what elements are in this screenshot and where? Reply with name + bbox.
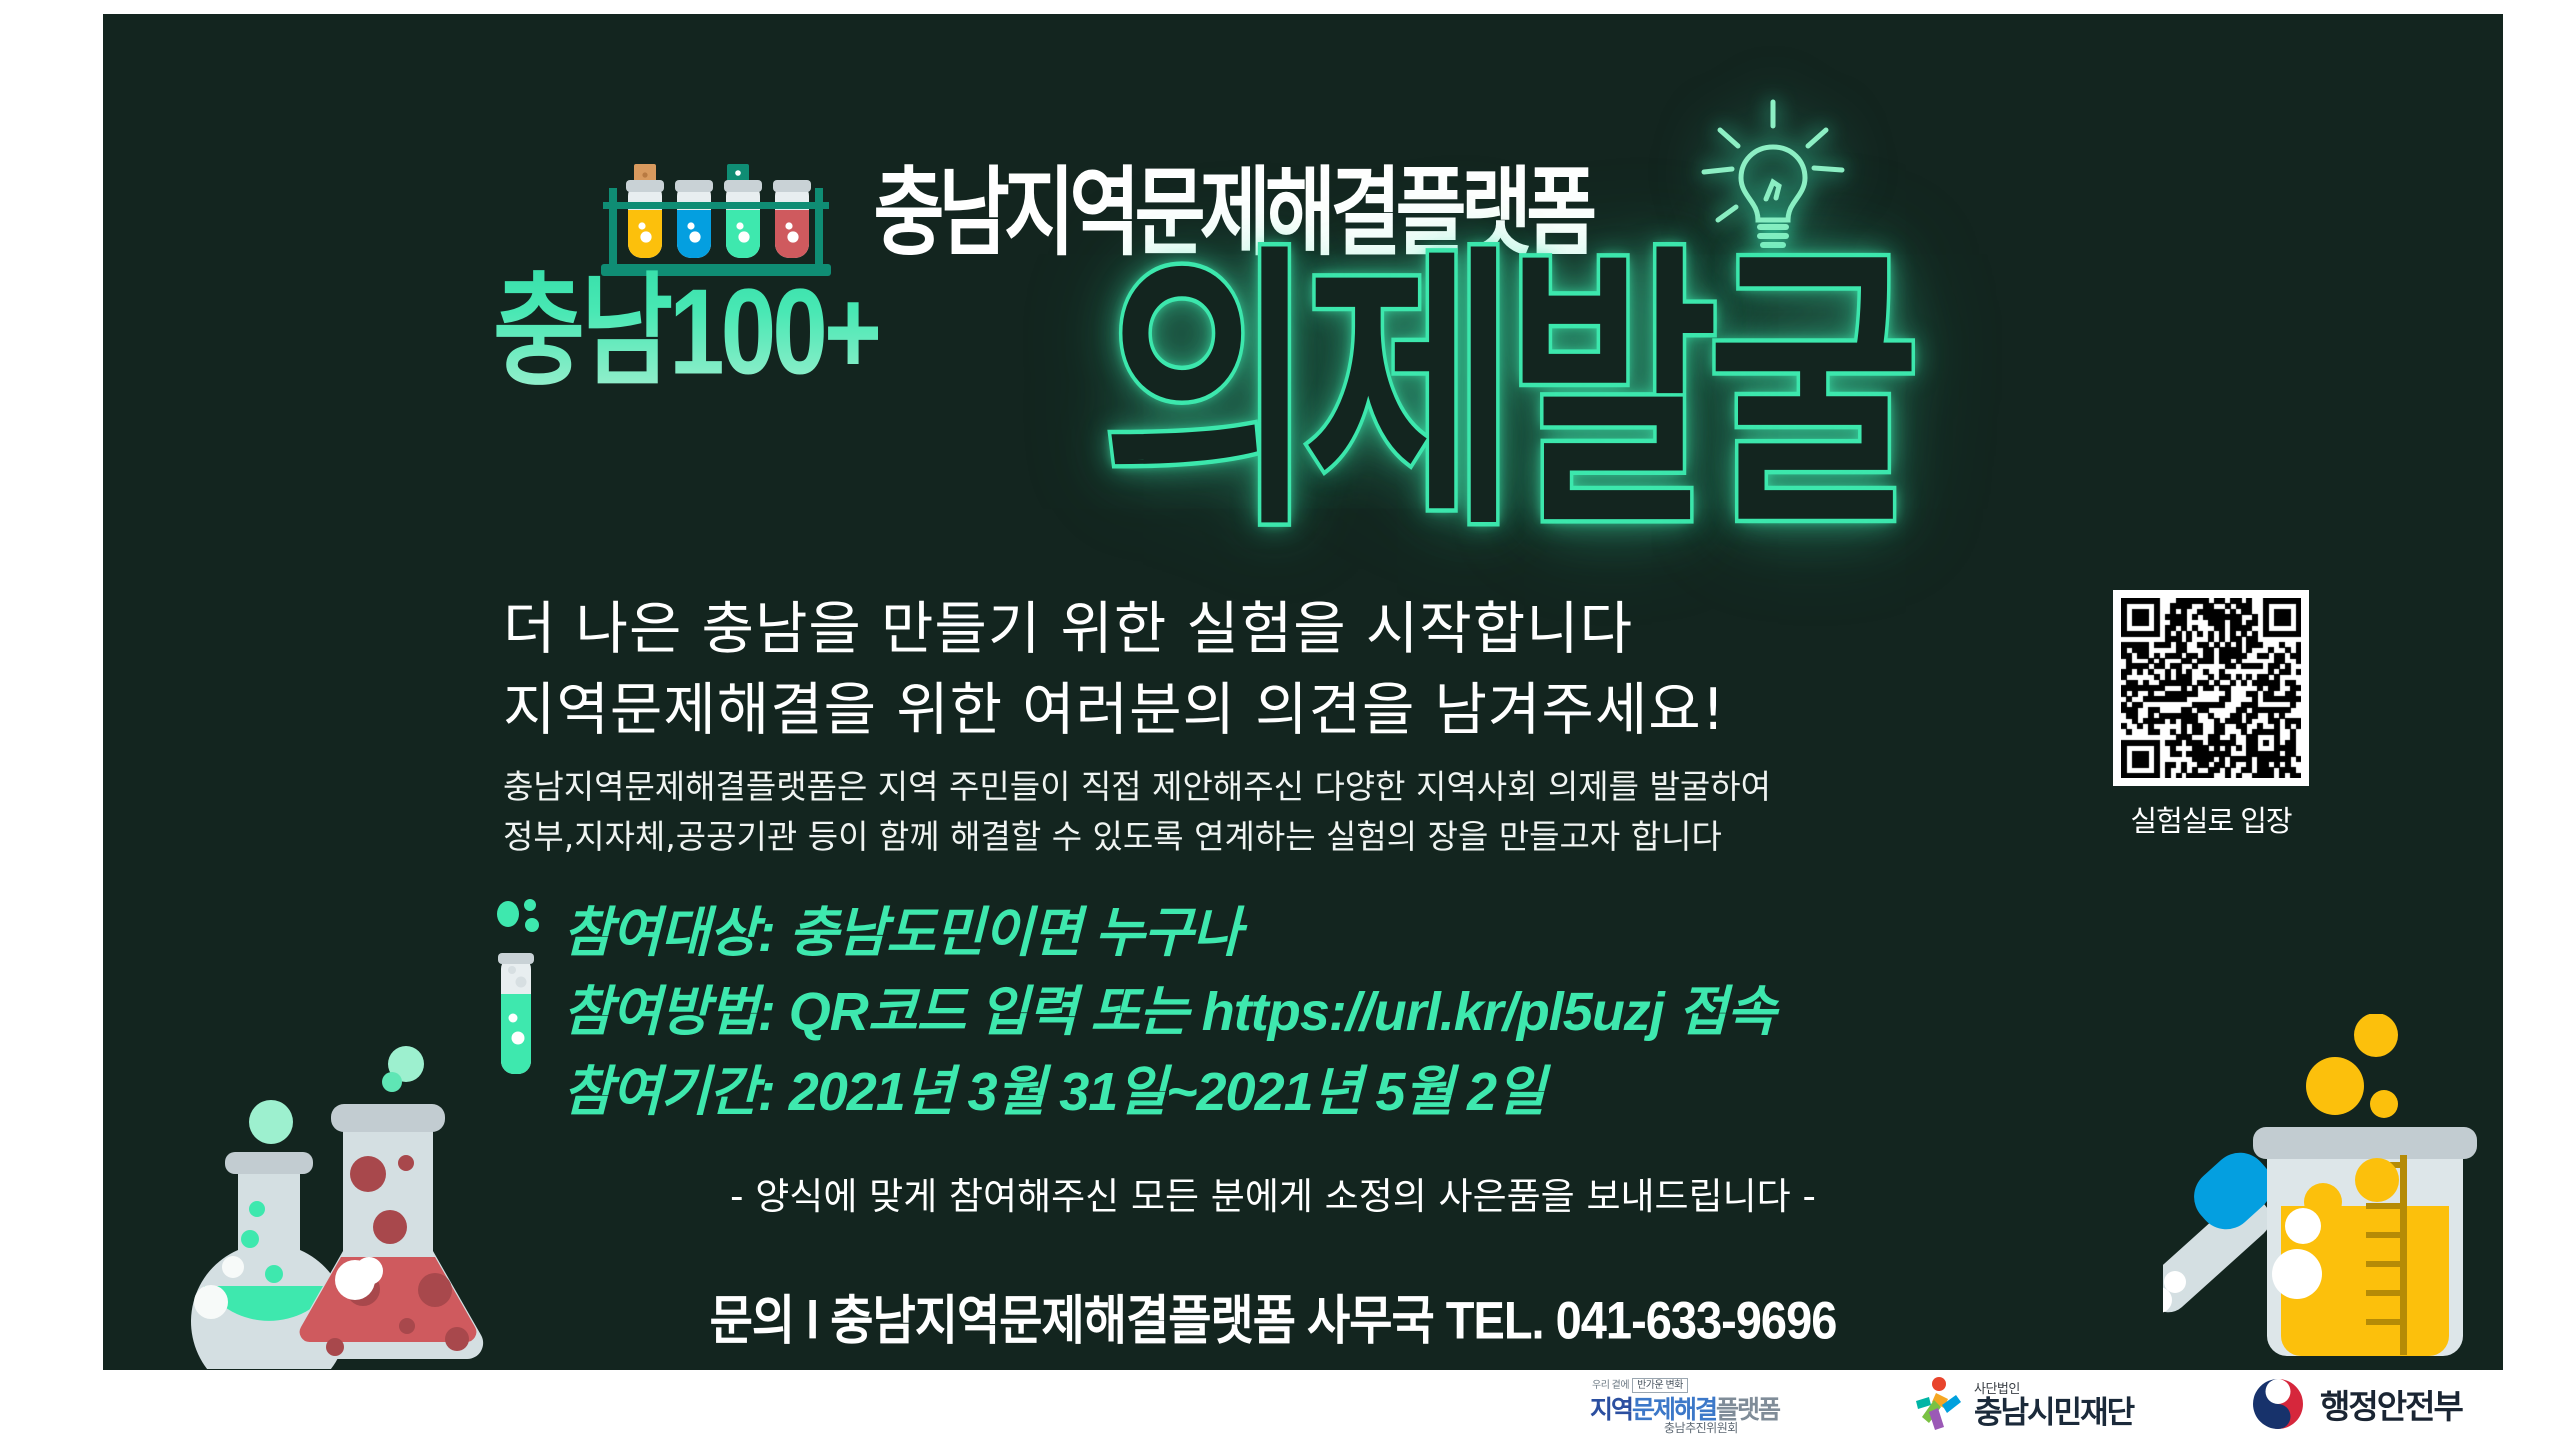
logo-text: 사단법인 충남시민재단 xyxy=(1974,1378,2133,1430)
logo-subtitle: 충남추진위원회 xyxy=(1664,1419,1738,1436)
description-block: 충남지역문제해결플랫폼은 지역 주민들이 직접 제안해주신 다양한 지역사회 의… xyxy=(503,762,1771,862)
logo-jiyeok-platform: 우리 곁에반가운 변화 지역문제해결플랫폼 충남추진위원회 xyxy=(1578,1372,1828,1436)
description-line-2: 정부,지자체,공공기관 등이 함께 해결할 수 있도록 연계하는 실험의 장을 … xyxy=(503,812,1771,862)
logo-chungnam-citizen-foundation: 사단법인 충남시민재단 xyxy=(1914,1372,2164,1436)
logo-tagline: 우리 곁에반가운 변화 xyxy=(1592,1376,1688,1391)
footer-logo-strip: 우리 곁에반가운 변화 지역문제해결플랫폼 충남추진위원회 사단법인 xyxy=(0,1370,2560,1440)
headline-line-1: 더 나은 충남을 만들기 위한 실험을 시작합니다 xyxy=(503,589,1726,670)
headline-line-2: 지역문제해결을 위한 여러분의 의견을 남겨주세요! xyxy=(503,670,1726,751)
beaker-pipette-icon xyxy=(2163,1014,2503,1370)
logo-big-text: 행정안전부 xyxy=(2320,1380,2462,1428)
lab-flasks-icon xyxy=(163,1024,523,1369)
qr-caption: 실험실로 입장 xyxy=(2105,798,2317,840)
qr-block[interactable]: 실험실로 입장 xyxy=(2105,590,2317,840)
poster-root: 충남지역문제해결플랫폼 xyxy=(0,0,2560,1440)
qr-canvas[interactable] xyxy=(2121,598,2301,778)
logo-big-text: 충남시민재단 xyxy=(1974,1397,2133,1430)
neon-title: 의제발굴 xyxy=(1103,154,1909,580)
taegeuk-icon xyxy=(2250,1376,2306,1432)
description-line-1: 충남지역문제해결플랫폼은 지역 주민들이 직접 제안해주신 다양한 지역사회 의… xyxy=(503,762,1771,812)
key-info-row-target: 참여대상: 충남도민이면 누구나 xyxy=(563,894,1775,973)
key-info-row-method[interactable]: 참여방법: QR코드 입력 또는 https://url.kr/pl5uzj 접… xyxy=(563,973,1775,1052)
headline-block: 더 나은 충남을 만들기 위한 실험을 시작합니다 지역문제해결을 위한 여러분… xyxy=(503,589,1726,751)
logo-title-part1: 지역 xyxy=(1590,1396,1632,1424)
qr-code-icon[interactable] xyxy=(2113,590,2309,786)
key-info-row-period: 참여기간: 2021년 3월 31일~2021년 5월 2일 xyxy=(563,1053,1775,1132)
brand-word: 충남100+ xyxy=(493,232,878,409)
molecule-icon xyxy=(497,899,539,932)
logo-row: 우리 곁에반가운 변화 지역문제해결플랫폼 충남추진위원회 사단법인 xyxy=(1578,1372,2510,1436)
key-info-block: 참여대상: 충남도민이면 누구나 참여방법: QR코드 입력 또는 https:… xyxy=(563,894,1775,1132)
logo-ministry-interior-safety: 행정안전부 xyxy=(2250,1372,2510,1436)
running-person-icon xyxy=(1914,1375,1966,1433)
poster-board: 충남지역문제해결플랫폼 xyxy=(103,14,2503,1370)
